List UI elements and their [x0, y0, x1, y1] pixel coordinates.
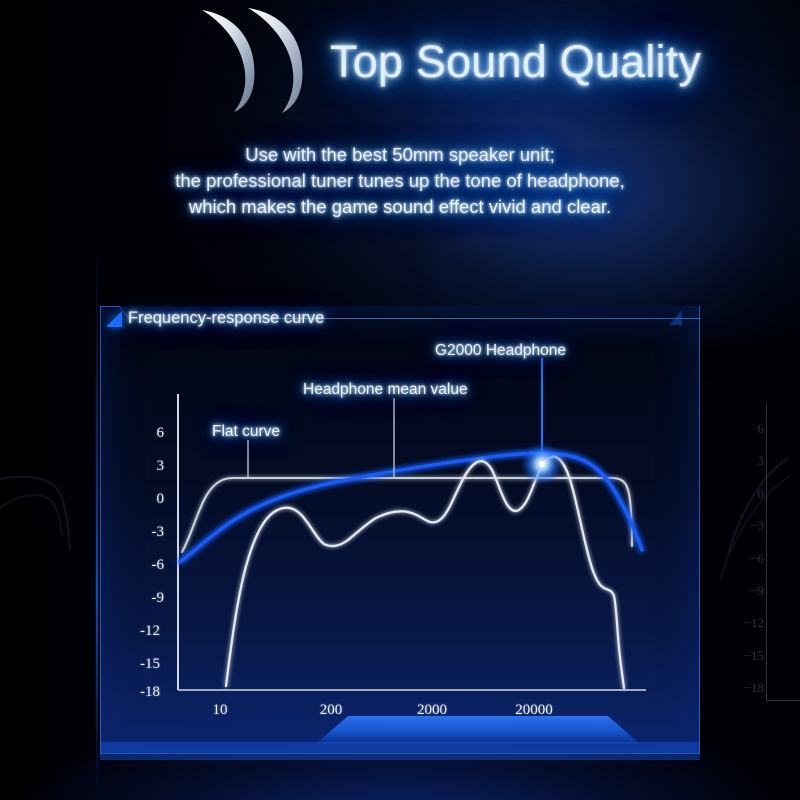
xtick-200: 200 [296, 702, 366, 719]
ytick-0: 0 [130, 491, 164, 508]
frequency-response-panel: Frequency-response curve [100, 306, 700, 754]
header: Top Sound Quality Use with the best 50mm… [0, 0, 800, 240]
subtitle-line-3: which makes the game sound effect vivid … [0, 194, 800, 220]
background-ghost-axis-frame [766, 404, 800, 701]
series-flat-curve [182, 478, 632, 552]
series-g2000-headphone [226, 457, 624, 688]
subtitle-line-2: the professional tuner tunes up the tone… [0, 168, 800, 194]
annotation-leaders [248, 358, 542, 478]
page-title: Top Sound Quality [330, 36, 701, 88]
ytick-3: 3 [130, 458, 164, 475]
frequency-response-chart [100, 306, 700, 754]
background-ghost-curve-left [0, 440, 100, 630]
xtick-2000: 2000 [397, 702, 467, 719]
annotation-g2000-headphone: G2000 Headphone [435, 342, 566, 360]
ytick-m12: -12 [126, 623, 160, 640]
highlight-dot [539, 461, 545, 467]
annotation-flat-curve: Flat curve [212, 423, 280, 441]
ytick-m9: -9 [130, 590, 164, 607]
series-headphone-mean-value [180, 453, 642, 562]
subtitle-line-1: Use with the best 50mm speaker unit; [0, 142, 800, 168]
subtitle: Use with the best 50mm speaker unit; the… [0, 142, 800, 220]
ytick-m6: -6 [130, 557, 164, 574]
ytick-m3: -3 [130, 524, 164, 541]
annotation-headphone-mean-value: Headphone mean value [303, 381, 468, 399]
poster-stage: 630−3−6 −9−12−15−18 Top Sound [0, 0, 800, 800]
double-crescent-wave-icon [196, 6, 336, 116]
xtick-10: 10 [185, 702, 255, 719]
background-ghost-curve-right [718, 400, 800, 700]
ytick-m15: -15 [126, 656, 160, 673]
ytick-6: 6 [130, 425, 164, 442]
ytick-m18: -18 [126, 684, 160, 701]
xtick-20000: 20000 [499, 702, 569, 719]
background-ghost-yaxis: 630−3−6 −9−12−15−18 [726, 422, 764, 714]
